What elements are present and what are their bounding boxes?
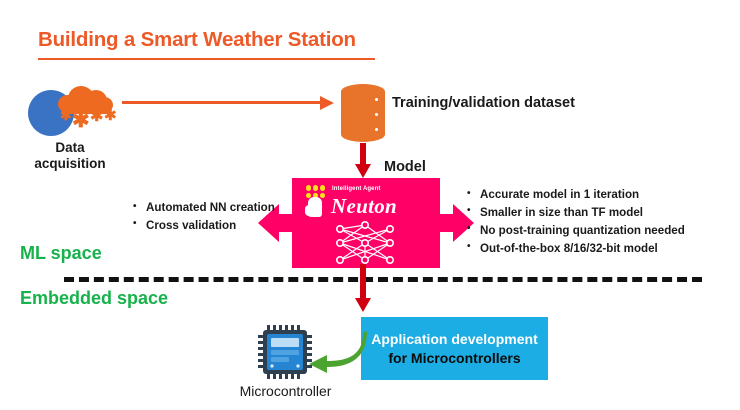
slide-canvas: Building a Smart Weather Station ✱ ✱ ✱ ✱… xyxy=(0,0,740,410)
microcontroller-label: Microcontroller xyxy=(218,383,353,399)
left-feature-list: Automated NN creation Cross validation xyxy=(132,199,275,235)
list-item: Accurate model in 1 iteration xyxy=(466,186,685,204)
dataset-label: Training/validation dataset xyxy=(392,95,575,111)
embedded-space-label: Embedded space xyxy=(20,288,168,309)
model-label: Model xyxy=(384,159,426,175)
hand-icon xyxy=(308,197,322,217)
neural-network-icon xyxy=(332,220,398,266)
page-title: Building a Smart Weather Station xyxy=(38,28,356,52)
snowflake-icon: ✱ xyxy=(90,109,103,125)
sun-cloud-snow-icon: ✱ ✱ ✱ ✱ xyxy=(20,82,130,140)
list-item: Cross validation xyxy=(132,217,275,235)
neuton-wordmark: Neuton xyxy=(331,194,397,219)
chip-icon xyxy=(257,324,313,380)
appdev-label-line1: Application development xyxy=(371,330,537,348)
green-curved-left-arrow-icon xyxy=(305,327,367,375)
space-divider-line xyxy=(64,277,702,282)
list-item: No post-training quantization needed xyxy=(466,222,685,240)
snowflake-icon: ✱ xyxy=(72,110,90,131)
appdev-label-line2: for Microcontrollers xyxy=(388,349,520,367)
red-down-arrow-icon xyxy=(355,143,371,177)
list-item: Out-of-the-box 8/16/32-bit model xyxy=(466,240,685,258)
application-development-box: Application development for Microcontrol… xyxy=(361,317,548,380)
red-down-arrow-icon xyxy=(355,264,371,314)
list-item: Automated NN creation xyxy=(132,199,275,217)
ml-space-label: ML space xyxy=(20,243,102,264)
neuton-tagline: Intelligent Agent xyxy=(332,186,380,192)
neuton-model-box: Intelligent Agent Neuton xyxy=(292,178,440,268)
data-acquisition-label-line2: acquisition xyxy=(10,156,130,172)
data-acquisition-label-line1: Data xyxy=(10,140,130,156)
data-acquisition-label: Data acquisition xyxy=(10,140,130,172)
list-item: Smaller in size than TF model xyxy=(466,204,685,222)
title-underline-rule xyxy=(38,58,375,60)
snowflake-icon: ✱ xyxy=(60,108,72,122)
snowflake-icon: ✱ xyxy=(104,108,117,123)
right-feature-list: Accurate model in 1 iteration Smaller in… xyxy=(466,186,685,258)
neuton-logo: Intelligent Agent Neuton xyxy=(306,184,426,218)
orange-right-arrow-icon xyxy=(122,96,337,110)
database-icon xyxy=(341,84,385,140)
